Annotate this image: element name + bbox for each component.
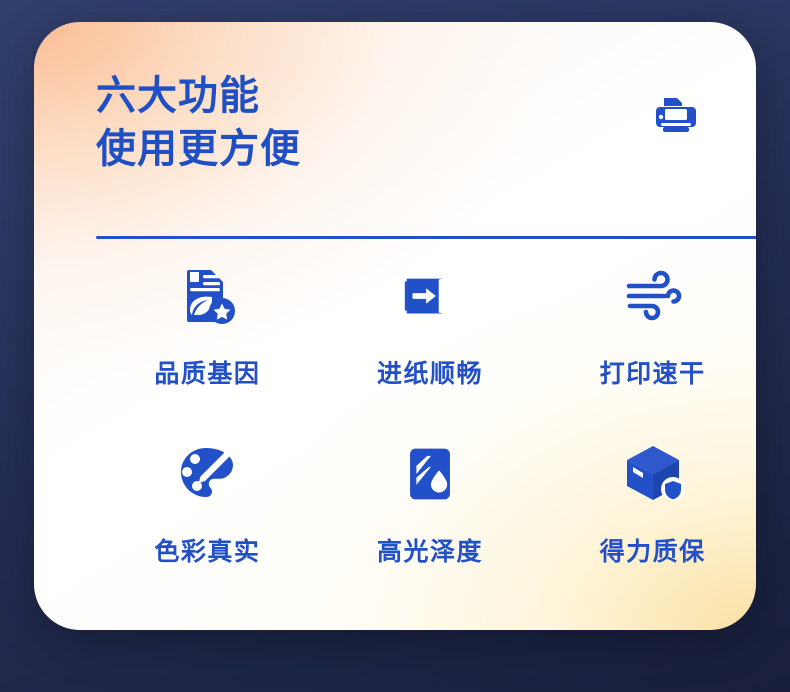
- feature-item-quick-dry: 打印速干: [541, 254, 756, 432]
- feature-label: 得力质保: [600, 532, 706, 568]
- feature-card: 六大功能 使用更方便: [34, 22, 756, 630]
- feature-item-high-gloss: 高光泽度: [319, 432, 542, 610]
- paper-feed-arrow-icon: [394, 260, 466, 332]
- feature-item-true-color: 色彩真实: [96, 432, 319, 610]
- card-header: 六大功能 使用更方便: [96, 70, 698, 210]
- headline-line-2: 使用更方便: [96, 123, 698, 176]
- document-leaf-star-icon: [171, 260, 243, 332]
- feature-item-quality-gene: 品质基因: [96, 254, 319, 432]
- printer-icon: [654, 96, 698, 136]
- feature-label: 打印速干: [600, 354, 706, 390]
- paint-palette-icon: [171, 438, 243, 510]
- wind-quick-dry-icon: [617, 260, 689, 332]
- feature-label: 品质基因: [154, 354, 260, 390]
- headline-line-1: 六大功能: [96, 70, 698, 123]
- gloss-droplet-icon: [394, 438, 466, 510]
- box-shield-warranty-icon: [617, 438, 689, 510]
- feature-label: 高光泽度: [377, 532, 483, 568]
- feature-label: 进纸顺畅: [377, 354, 483, 390]
- page-title: 六大功能 使用更方便: [96, 70, 698, 176]
- feature-item-warranty: 得力质保: [541, 432, 756, 610]
- header-divider: [96, 236, 756, 239]
- feature-label: 色彩真实: [154, 532, 260, 568]
- feature-grid: 品质基因 进纸顺畅: [96, 254, 756, 610]
- feature-item-smooth-feed: 进纸顺畅: [319, 254, 542, 432]
